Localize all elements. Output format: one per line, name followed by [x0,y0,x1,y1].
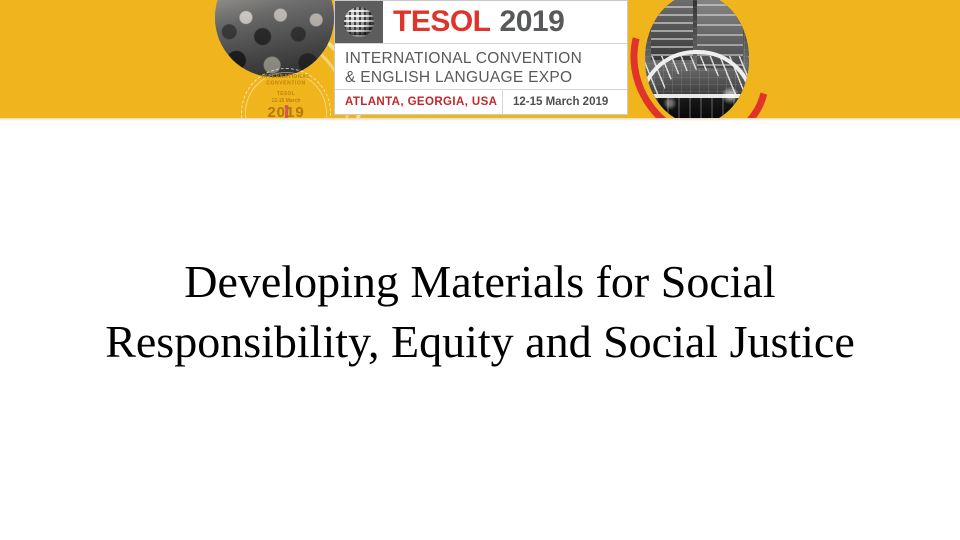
tesol-subtitle-line-1: INTERNATIONAL CONVENTION [345,49,627,68]
running-person-icon [285,109,289,118]
conference-banner: INTERNATIONAL CONVENTION TESOL 12-15 Mar… [0,0,960,118]
atlanta-bridge-photo [645,0,749,118]
crowd-photo-shading [215,0,334,77]
tesol-wordmark-row: TESOL 2019 [335,1,627,44]
globe-icon-cell [335,1,383,43]
tesol-city-text: ATLANTA, GEORGIA, USA [345,96,497,108]
date-seal-ring-label: INTERNATIONAL CONVENTION [242,73,330,86]
date-seal-brand: TESOL [242,91,330,97]
banner-drop-shadow [0,118,960,121]
atlanta-night-lights [645,0,749,118]
tesol-logo-card: TESOL 2019 INTERNATIONAL CONVENTION & EN… [334,0,628,115]
slide-canvas: INTERNATIONAL CONVENTION TESOL 12-15 Mar… [0,0,960,540]
tesol-dates-text: 12-15 March 2019 [513,96,608,108]
page-title-line-2: Responsibility, Equity and Social Justic… [24,312,936,372]
tesol-dates-cell: 12-15 March 2019 [503,96,627,108]
tesol-subtitle-row: INTERNATIONAL CONVENTION & ENGLISH LANGU… [335,44,627,90]
tesol-location-row: ATLANTA, GEORGIA, USA 12-15 March 2019 [335,90,627,114]
page-title: Developing Materials for Social Responsi… [24,252,936,372]
tesol-brand-text: TESOL [393,7,491,37]
globe-icon [344,7,374,37]
tesol-city-cell: ATLANTA, GEORGIA, USA [335,90,503,114]
tesol-wordmark: TESOL 2019 [383,1,627,43]
date-seal-stamp: INTERNATIONAL CONVENTION TESOL 12-15 Mar… [241,68,331,118]
tesol-subtitle-line-2: & ENGLISH LANGUAGE EXPO [345,68,627,87]
page-title-line-1: Developing Materials for Social [24,252,936,312]
crowd-photo [215,0,334,77]
tesol-year-text: 2019 [500,7,565,37]
